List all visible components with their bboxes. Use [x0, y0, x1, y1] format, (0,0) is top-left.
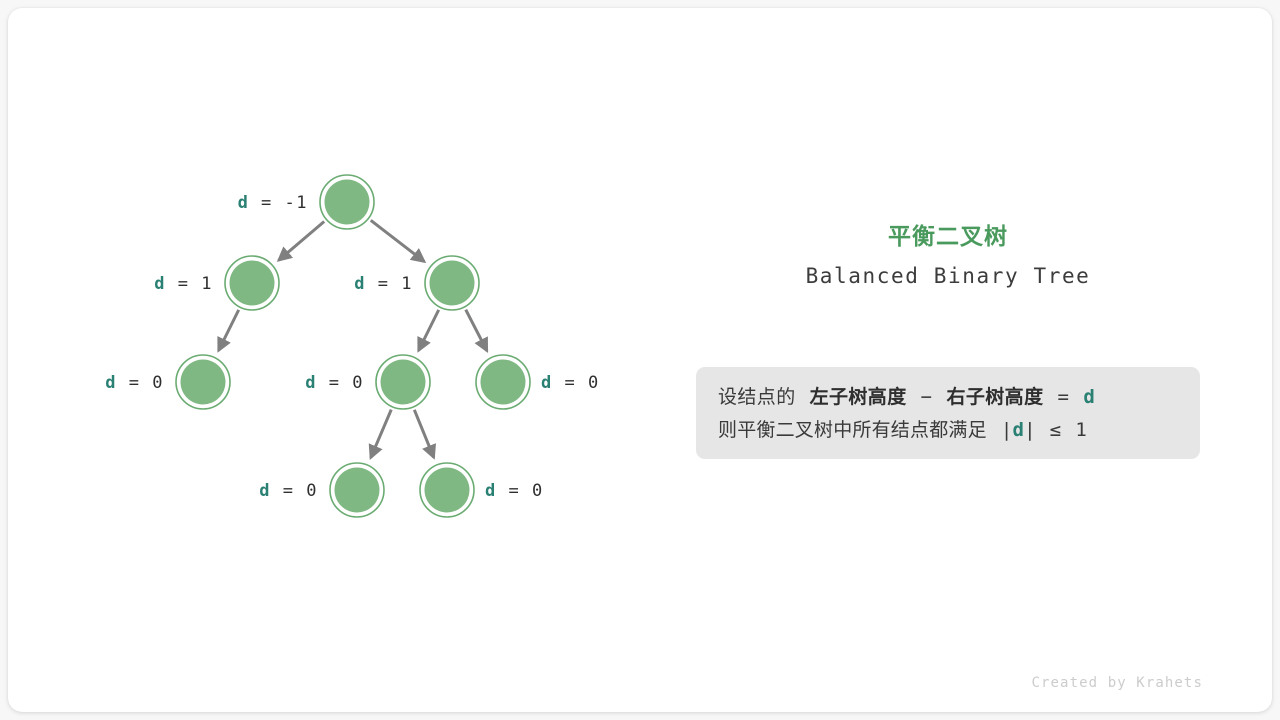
left-subtree-height-term: 左子树高度 — [810, 386, 907, 408]
node-label-value: = 0 — [553, 373, 600, 393]
panel-title-cn: 平衡二叉树 — [696, 224, 1200, 252]
title-panel: 平衡二叉树 Balanced Binary Tree — [696, 224, 1200, 288]
figure-card — [8, 8, 1272, 712]
abs-bar-left: | — [1001, 419, 1013, 441]
node-label-variable: d — [305, 373, 317, 393]
variable-d-line1: d — [1083, 386, 1095, 408]
variable-d-line2: d — [1012, 419, 1024, 441]
figure-canvas: d = -1d = 1d = 1d = 0d = 0d = 0d = 0d = … — [0, 0, 1280, 720]
node-label-variable: d — [354, 274, 366, 294]
node-balance-label: d = 0 — [0, 483, 318, 500]
equals-operator: = — [1057, 386, 1069, 408]
definition-line-1: 设结点的左子树高度−右子树高度=d — [718, 381, 1178, 414]
minus-operator: − — [921, 386, 933, 408]
less-equal-operator: ≤ — [1050, 419, 1062, 441]
definition-line-2: 则平衡二叉树中所有结点都满足|d|≤1 — [718, 414, 1178, 447]
node-balance-label: d = -1 — [0, 195, 308, 212]
balance-condition-prefix: 则平衡二叉树中所有结点都满足 — [718, 419, 987, 441]
definition-infobox: 设结点的左子树高度−右子树高度=d 则平衡二叉树中所有结点都满足|d|≤1 — [696, 367, 1200, 459]
node-balance-label: d = 0 — [485, 483, 544, 500]
bound-value: 1 — [1075, 419, 1087, 441]
node-label-variable: d — [259, 481, 271, 501]
right-subtree-height-term: 右子树高度 — [946, 386, 1043, 408]
node-balance-label: d = 1 — [0, 276, 413, 293]
credit-text: Created by Krahets — [0, 675, 1203, 691]
node-label-variable: d — [541, 373, 553, 393]
abs-bar-right: | — [1024, 419, 1036, 441]
node-label-value: = 0 — [317, 373, 364, 393]
node-label-value: = 1 — [366, 274, 413, 294]
definition-prefix: 设结点的 — [718, 386, 796, 408]
node-label-variable: d — [485, 481, 497, 501]
node-balance-label: d = 0 — [0, 375, 364, 392]
node-balance-label: d = 0 — [541, 375, 600, 392]
panel-title-en: Balanced Binary Tree — [696, 264, 1200, 288]
node-label-variable: d — [238, 193, 250, 213]
node-label-value: = 0 — [497, 481, 544, 501]
node-label-value: = 0 — [271, 481, 318, 501]
node-label-value: = -1 — [249, 193, 308, 213]
